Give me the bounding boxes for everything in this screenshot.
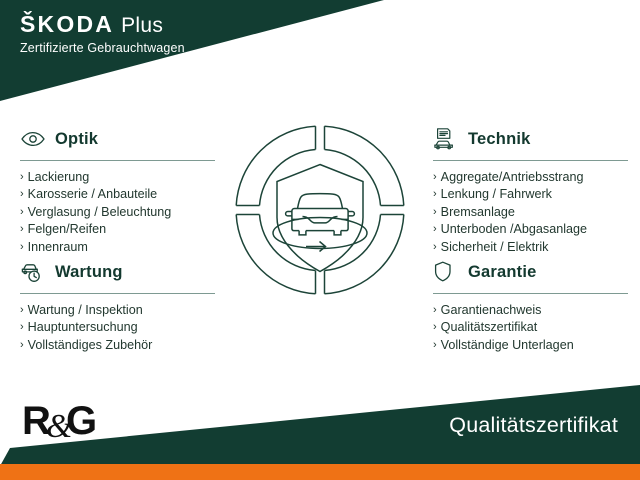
section-technik-header: Technik	[433, 125, 628, 153]
section-garantie-divider	[433, 293, 628, 294]
chevron-right-icon: ›	[433, 319, 437, 336]
list-item-label: Verglasung / Beleuchtung	[28, 204, 172, 221]
list-item: ›Qualitätszertifikat	[433, 319, 628, 336]
section-optik-items: ›Lackierung ›Karosserie / Anbauteile ›Ve…	[20, 169, 215, 256]
section-technik-items: ›Aggregate/Antriebsstrang ›Lenkung / Fah…	[433, 169, 628, 256]
list-item: ›Felgen/Reifen	[20, 221, 215, 238]
list-item-label: Bremsanlage	[441, 204, 515, 221]
list-item: ›Sicherheit / Elektrik	[433, 239, 628, 256]
list-item: ›Wartung / Inspektion	[20, 302, 215, 319]
section-garantie: Garantie ›Garantienachweis ›Qualitätszer…	[433, 258, 628, 354]
list-item: ›Vollständiges Zubehör	[20, 337, 215, 354]
list-item-label: Wartung / Inspektion	[28, 302, 143, 319]
brand-primary-text: ŠKODA	[20, 13, 114, 36]
section-technik-title: Technik	[468, 131, 531, 148]
list-item-label: Qualitätszertifikat	[441, 319, 538, 336]
section-optik: Optik ›Lackierung ›Karosserie / Anbautei…	[20, 125, 215, 256]
list-item: ›Bremsanlage	[433, 204, 628, 221]
chevron-right-icon: ›	[20, 337, 24, 354]
chevron-right-icon: ›	[433, 186, 437, 203]
section-optik-header: Optik	[20, 125, 215, 153]
section-garantie-title: Garantie	[468, 264, 537, 281]
brand-lockup: ŠKODA Plus Zertifizierte Gebrauchtwagen	[20, 13, 185, 56]
list-item: ›Aggregate/Antriebsstrang	[433, 169, 628, 186]
section-optik-title: Optik	[55, 131, 98, 148]
brand-name-row: ŠKODA Plus	[20, 13, 185, 36]
chevron-right-icon: ›	[20, 302, 24, 319]
footer-title: Qualitätszertifikat	[449, 415, 618, 437]
list-item-label: Garantienachweis	[441, 302, 542, 319]
rg-logo: R G &	[22, 401, 108, 443]
car-clock-icon	[20, 260, 46, 284]
section-garantie-items: ›Garantienachweis ›Qualitätszertifikat ›…	[433, 302, 628, 354]
list-item: ›Lenkung / Fahrwerk	[433, 186, 628, 203]
list-item-label: Lackierung	[28, 169, 90, 186]
list-item: ›Vollständige Unterlagen	[433, 337, 628, 354]
chevron-right-icon: ›	[20, 239, 24, 256]
chevron-right-icon: ›	[20, 204, 24, 221]
list-item: ›Innenraum	[20, 239, 215, 256]
footer-accent-bar	[0, 464, 640, 480]
brand-subtitle: Zertifizierte Gebrauchtwagen	[20, 42, 185, 56]
chevron-right-icon: ›	[20, 169, 24, 186]
shield-icon	[433, 260, 459, 284]
shield-car-certified-icon	[232, 122, 408, 298]
chevron-right-icon: ›	[20, 319, 24, 336]
list-item: ›Karosserie / Anbauteile	[20, 186, 215, 203]
list-item-label: Hauptuntersuchung	[28, 319, 138, 336]
chevron-right-icon: ›	[433, 169, 437, 186]
list-item-label: Unterboden /Abgasanlage	[441, 221, 587, 238]
list-item-label: Sicherheit / Elektrik	[441, 239, 549, 256]
eye-icon	[20, 127, 46, 151]
list-item-label: Lenkung / Fahrwerk	[441, 186, 552, 203]
list-item: ›Unterboden /Abgasanlage	[433, 221, 628, 238]
list-item-label: Vollständiges Zubehör	[28, 337, 153, 354]
section-wartung-title: Wartung	[55, 264, 123, 281]
list-item-label: Innenraum	[28, 239, 88, 256]
chevron-right-icon: ›	[433, 302, 437, 319]
list-item-label: Felgen/Reifen	[28, 221, 106, 238]
section-technik: Technik ›Aggregate/Antriebsstrang ›Lenku…	[433, 125, 628, 256]
list-item-label: Vollständige Unterlagen	[441, 337, 574, 354]
list-item-label: Aggregate/Antriebsstrang	[441, 169, 584, 186]
rg-logo-ampersand: &	[46, 408, 73, 443]
section-wartung-header: Wartung	[20, 258, 215, 286]
section-garantie-header: Garantie	[433, 258, 628, 286]
list-item: ›Lackierung	[20, 169, 215, 186]
chevron-right-icon: ›	[433, 337, 437, 354]
list-item-label: Karosserie / Anbauteile	[28, 186, 158, 203]
certificate-page: ŠKODA Plus Zertifizierte Gebrauchtwagen …	[0, 0, 640, 480]
list-item: ›Garantienachweis	[433, 302, 628, 319]
chevron-right-icon: ›	[433, 221, 437, 238]
chevron-right-icon: ›	[20, 186, 24, 203]
section-wartung-items: ›Wartung / Inspektion ›Hauptuntersuchung…	[20, 302, 215, 354]
list-item: ›Verglasung / Beleuchtung	[20, 204, 215, 221]
brand-secondary-text: Plus	[121, 15, 163, 36]
section-technik-divider	[433, 160, 628, 161]
chevron-right-icon: ›	[433, 204, 437, 221]
section-wartung-divider	[20, 293, 215, 294]
section-optik-divider	[20, 160, 215, 161]
section-wartung: Wartung ›Wartung / Inspektion ›Hauptunte…	[20, 258, 215, 354]
list-item: ›Hauptuntersuchung	[20, 319, 215, 336]
chevron-right-icon: ›	[20, 221, 24, 238]
chevron-right-icon: ›	[433, 239, 437, 256]
car-lift-document-icon	[433, 127, 459, 151]
